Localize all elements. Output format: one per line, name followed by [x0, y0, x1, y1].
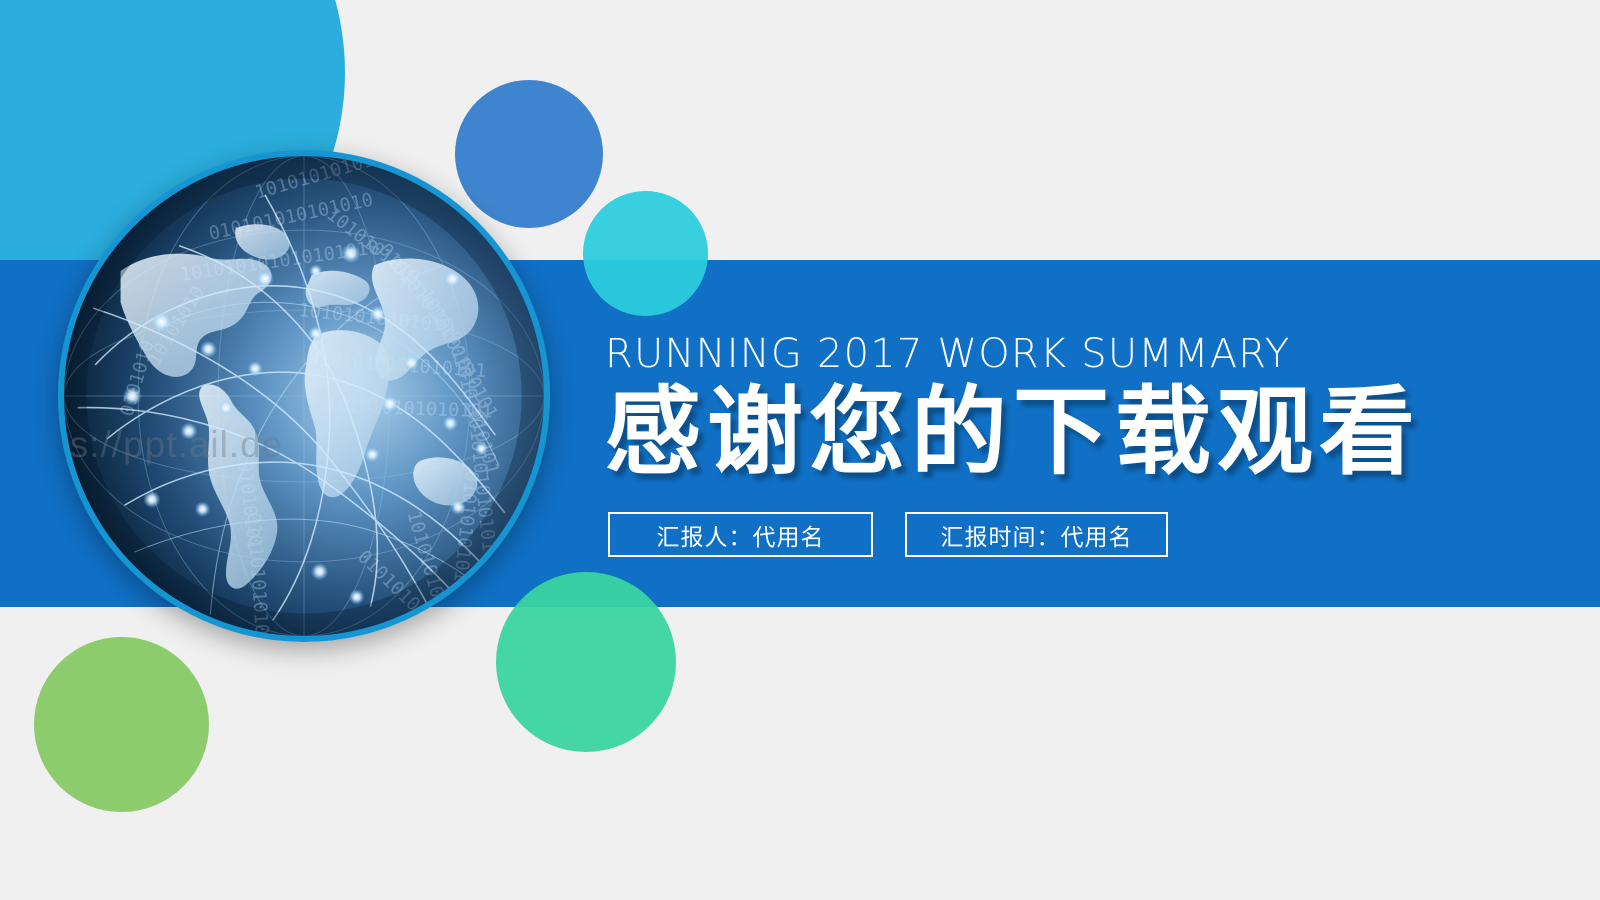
- presentation-slide: 1010101010101 010101010101010 1010101010…: [0, 0, 1600, 900]
- meta-presenter-box[interactable]: 汇报人：代用名: [608, 512, 873, 557]
- subtitle-english: RUNNING 2017 WORK SUMMARY: [605, 332, 1545, 376]
- title-block: RUNNING 2017 WORK SUMMARY 感谢您的下载观看: [605, 332, 1545, 484]
- decor-circle-teal-small: [583, 191, 708, 316]
- globe-graphic-icon: 1010101010101 010101010101010 1010101010…: [64, 156, 544, 636]
- globe-network-image: 1010101010101 010101010101010 1010101010…: [58, 150, 550, 642]
- page-title: 感谢您的下载观看: [605, 380, 1545, 484]
- meta-date-box[interactable]: 汇报时间：代用名: [905, 512, 1168, 557]
- meta-row: 汇报人：代用名 汇报时间：代用名: [608, 512, 1168, 557]
- decor-circle-green-light: [34, 637, 209, 812]
